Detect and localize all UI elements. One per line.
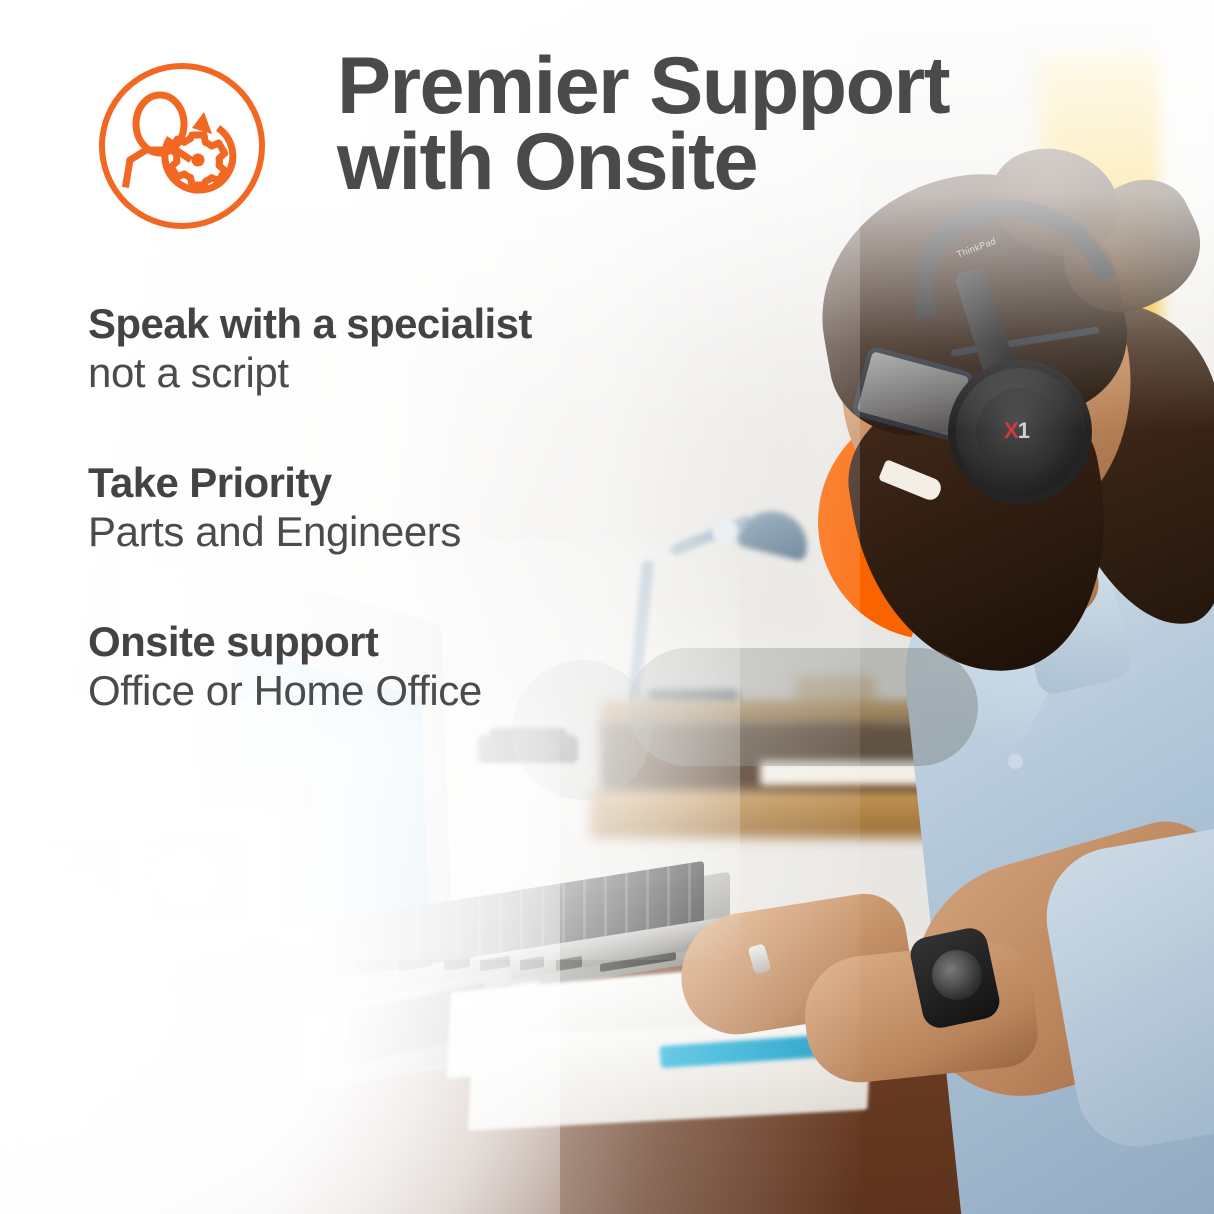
feature-item-specialist: Speak with a specialist not a script <box>88 300 728 397</box>
promo-content: Premier Support with Onsite Speak with a… <box>0 0 1214 1214</box>
page-title: Premier Support with Onsite <box>337 48 1157 200</box>
feature-title: Speak with a specialist <box>88 300 728 347</box>
headline-line-1: Premier Support <box>337 48 1157 124</box>
feature-item-priority: Take Priority Parts and Engineers <box>88 459 728 556</box>
premier-support-icon <box>92 56 272 236</box>
promo-canvas: ThinkPad X1 <box>0 0 1214 1214</box>
feature-subtitle: Parts and Engineers <box>88 508 728 556</box>
headline-line-2: with Onsite <box>337 124 1157 200</box>
feature-item-onsite: Onsite support Office or Home Office <box>88 618 728 715</box>
feature-title: Onsite support <box>88 618 728 665</box>
feature-subtitle: Office or Home Office <box>88 667 728 715</box>
feature-list: Speak with a specialist not a script Tak… <box>88 300 728 777</box>
feature-title: Take Priority <box>88 459 728 506</box>
feature-subtitle: not a script <box>88 349 728 397</box>
